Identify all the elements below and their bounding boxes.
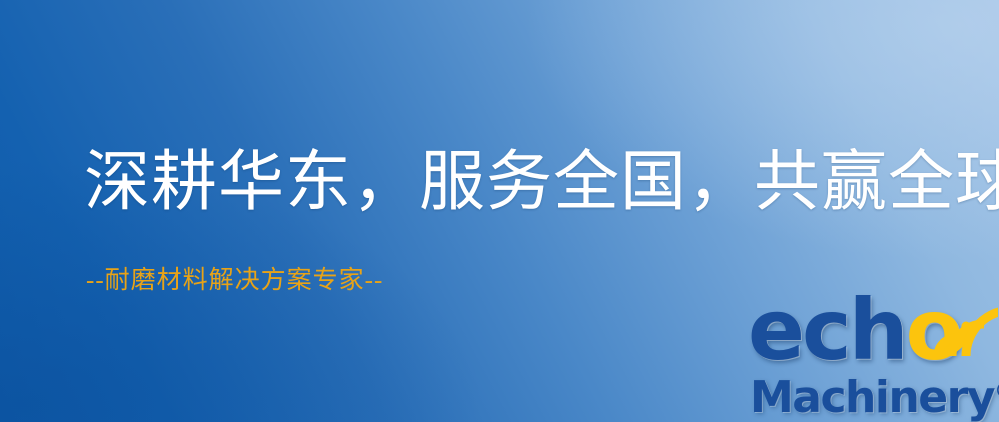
echo-machinery-logo: echo Machinery®	[742, 288, 999, 418]
banner-headline: 深耕华东，服务全国，共赢全球	[84, 150, 999, 216]
logo-tagline: Machinery®	[750, 370, 999, 420]
banner-subtitle: --耐磨材料解决方案专家--	[86, 268, 383, 293]
registered-trademark-icon: ®	[994, 379, 999, 404]
logo-wordmark: echo	[748, 288, 960, 372]
promo-banner: 深耕华东，服务全国，共赢全球 --耐磨材料解决方案专家-- echo Machi…	[0, 0, 999, 422]
logo-wordmark-prefix: ech	[748, 281, 906, 379]
signal-waves-icon	[934, 290, 998, 362]
logo-tagline-text: Machinery	[750, 372, 994, 422]
